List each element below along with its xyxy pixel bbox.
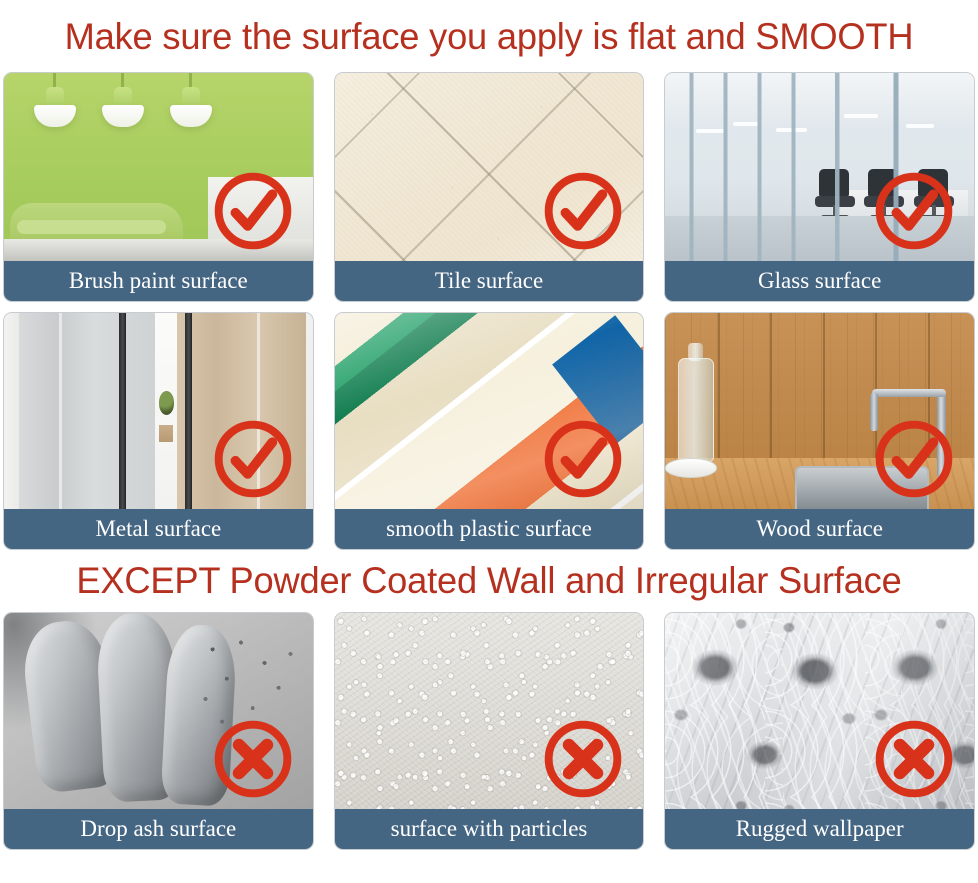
photo-wood-surface bbox=[665, 313, 974, 509]
check-icon bbox=[539, 167, 627, 255]
page-title-top: Make sure the surface you apply is flat … bbox=[10, 0, 968, 72]
check-icon bbox=[209, 167, 297, 255]
photo-tile-surface bbox=[335, 73, 644, 261]
card-metal-surface[interactable]: Metal surface bbox=[3, 312, 314, 550]
card-tile-surface[interactable]: Tile surface bbox=[334, 72, 645, 302]
shelf bbox=[156, 415, 175, 425]
card-wood-surface[interactable]: Wood surface bbox=[664, 312, 975, 550]
box bbox=[159, 425, 173, 443]
card-brush-paint-surface[interactable]: Brush paint surface bbox=[3, 72, 314, 302]
photo-smooth-plastic-surface bbox=[335, 313, 644, 509]
card-caption: Tile surface bbox=[335, 261, 644, 301]
check-icon bbox=[870, 415, 958, 503]
glass-bottle bbox=[678, 358, 714, 462]
infographic-page: Make sure the surface you apply is flat … bbox=[0, 0, 978, 883]
sofa bbox=[10, 203, 183, 243]
card-caption: Drop ash surface bbox=[4, 809, 313, 849]
photo-glass-surface bbox=[665, 73, 974, 261]
photo-brush-paint-surface bbox=[4, 73, 313, 261]
card-drop-ash-surface[interactable]: Drop ash surface bbox=[3, 612, 314, 850]
card-surface-with-particles[interactable]: surface with particles bbox=[334, 612, 645, 850]
card-rugged-wallpaper[interactable]: Rugged wallpaper bbox=[664, 612, 975, 850]
cross-icon bbox=[209, 715, 297, 803]
check-icon bbox=[870, 167, 958, 255]
card-caption: Metal surface bbox=[4, 509, 313, 549]
card-caption: smooth plastic surface bbox=[335, 509, 644, 549]
photo-surface-with-particles bbox=[335, 613, 644, 809]
card-caption: Glass surface bbox=[665, 261, 974, 301]
cross-icon bbox=[870, 715, 958, 803]
faucet-arm bbox=[872, 389, 946, 397]
check-icon bbox=[209, 415, 297, 503]
unsuitable-row: Drop ash surface surface with particles bbox=[0, 612, 978, 850]
card-glass-surface[interactable]: Glass surface bbox=[664, 72, 975, 302]
cross-icon bbox=[539, 715, 627, 803]
refrigerator-silver bbox=[19, 313, 155, 509]
suitable-row-1: Brush paint surface Tile surface bbox=[0, 72, 978, 302]
photo-metal-surface bbox=[4, 313, 313, 509]
photo-drop-ash-surface bbox=[4, 613, 313, 809]
card-caption: Wood surface bbox=[665, 509, 974, 549]
suitable-row-2: Metal surface smooth plastic surface bbox=[0, 312, 978, 550]
photo-rugged-wallpaper bbox=[665, 613, 974, 809]
card-caption: Brush paint surface bbox=[4, 261, 313, 301]
check-icon bbox=[539, 415, 627, 503]
card-caption: Rugged wallpaper bbox=[665, 809, 974, 849]
page-title-bottom: EXCEPT Powder Coated Wall and Irregular … bbox=[10, 550, 968, 612]
card-caption: surface with particles bbox=[335, 809, 644, 849]
card-smooth-plastic-surface[interactable]: smooth plastic surface bbox=[334, 312, 645, 550]
plate bbox=[665, 458, 716, 478]
